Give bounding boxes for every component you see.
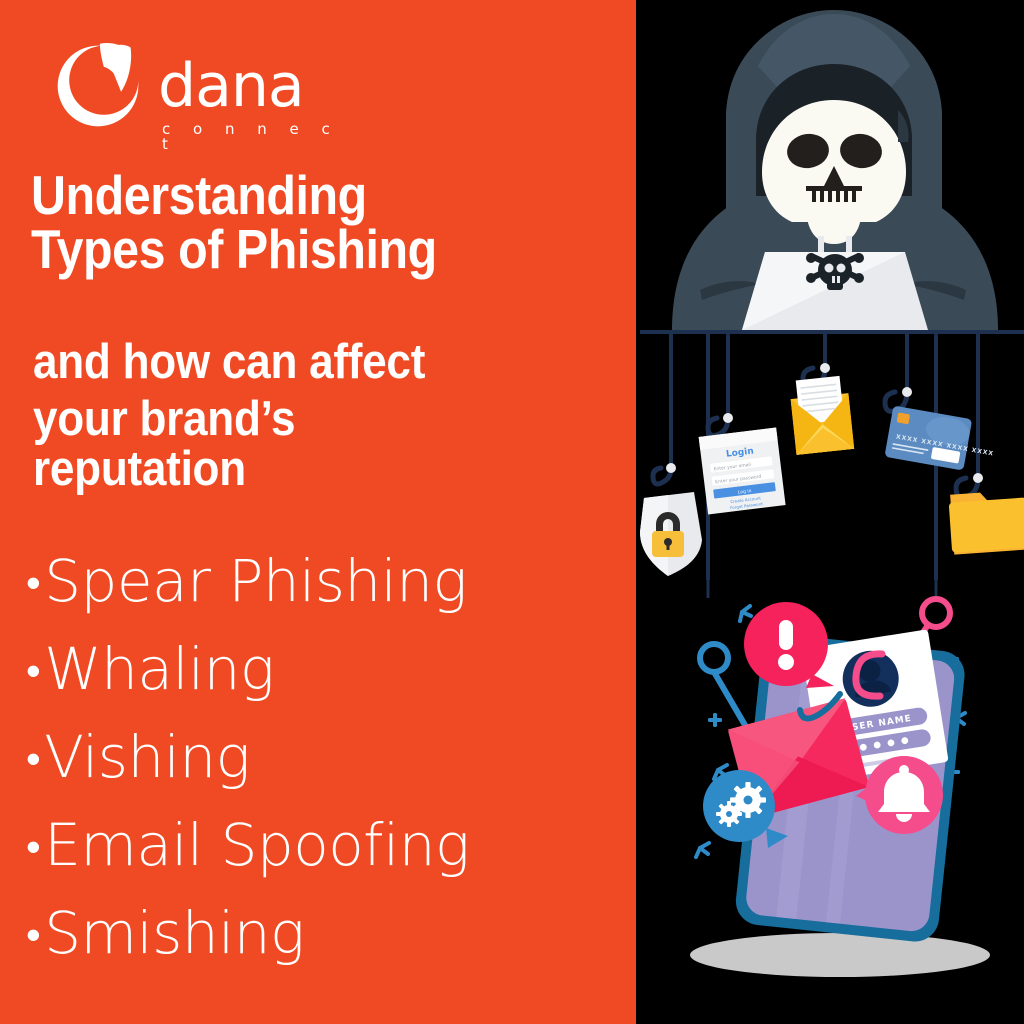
scene-shadow [690,933,990,977]
envelope-hook [789,363,854,455]
shield-lock-hook [640,463,702,576]
illustration-area: Login Enter your email Enter your passwo… [0,0,1024,1024]
poster-root: dana c o n n e c t Understanding Types o… [0,0,1024,1024]
card-chip-icon [897,412,911,424]
hooded-skull-hacker [672,10,998,330]
credit-card-hook: XXXX XXXX XXXX XXXX [884,387,999,475]
folder-hook [948,473,1024,555]
phishing-illustration: Login Enter your email Enter your passwo… [0,0,1024,1024]
phishing-phone-scene: USER NAME [696,580,967,944]
login-form-hook: Login Enter your email Enter your passwo… [699,413,786,514]
